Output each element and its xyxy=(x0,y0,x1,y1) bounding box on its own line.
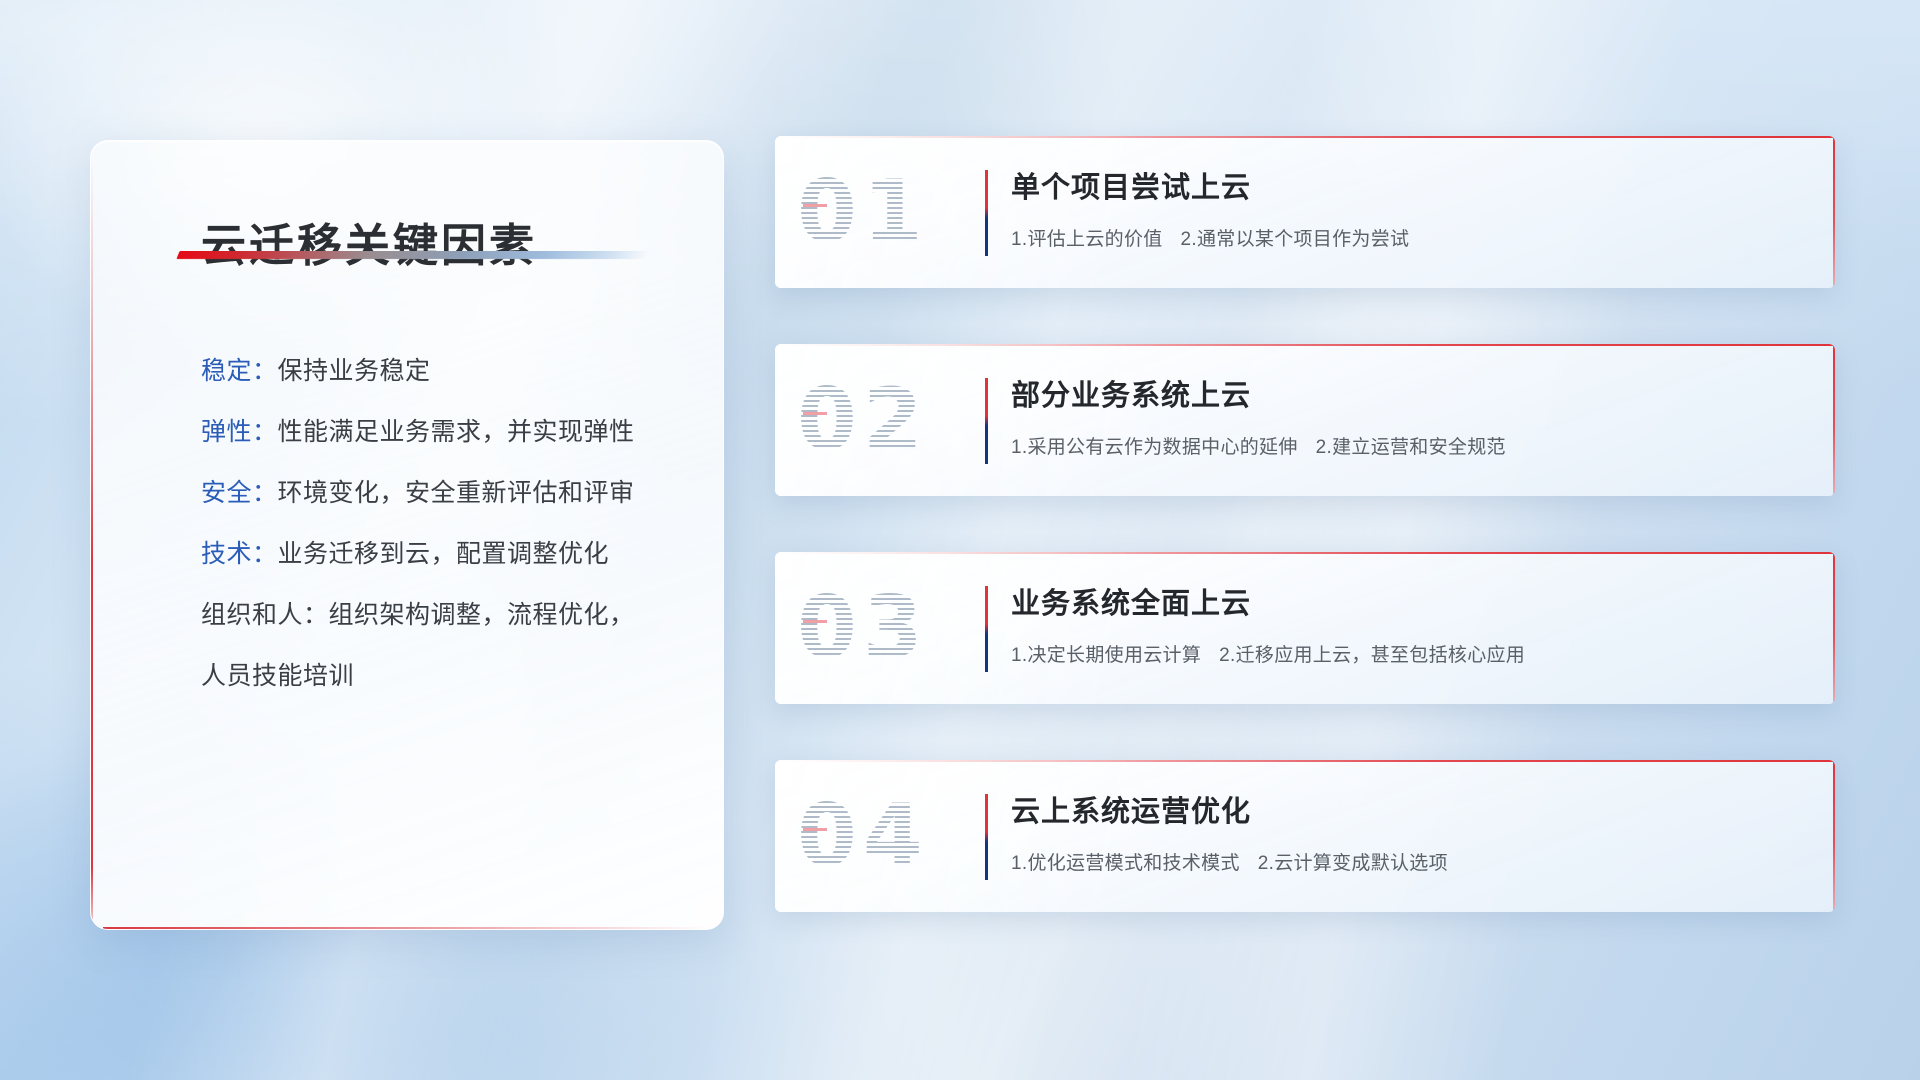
migration-stages-list: 01 单个项目尝试上云 1.评估上云的价值2.通常以某个项目作为尝试 02 部分… xyxy=(775,136,1835,968)
stage-desc-item-2: 2.通常以某个项目作为尝试 xyxy=(1181,229,1410,250)
card-right-accent xyxy=(1833,552,1835,704)
stage-content: 业务系统全面上云 1.决定长期使用云计算2.迁移应用上云，甚至包括核心应用 xyxy=(1011,580,1795,667)
list-item-continuation: 人员技能培训 xyxy=(201,646,677,707)
list-item-text: 业务迁移到云，配置调整优化 xyxy=(278,540,610,568)
stage-description: 1.评估上云的价值2.通常以某个项目作为尝试 xyxy=(1011,224,1795,251)
list-item-text: 组织架构调整，流程优化， xyxy=(329,601,635,629)
list-item-key: 稳定： xyxy=(201,357,278,385)
stage-card[interactable]: 03 业务系统全面上云 1.决定长期使用云计算2.迁移应用上云，甚至包括核心应用 xyxy=(775,552,1835,704)
title-underline-rule xyxy=(176,251,649,259)
list-item: 稳定：保持业务稳定 xyxy=(201,341,677,402)
stage-number: 02 xyxy=(797,370,929,470)
slide-canvas: 云迁移关键因素 稳定：保持业务稳定 弹性：性能满足业务需求，并实现弹性 安全：环… xyxy=(0,0,1920,1080)
card-top-accent xyxy=(775,760,1835,762)
stage-number: 03 xyxy=(797,578,929,678)
stage-desc-item-1: 1.采用公有云作为数据中心的延伸 xyxy=(1011,437,1298,458)
card-top-accent xyxy=(775,344,1835,346)
stage-desc-item-1: 1.优化运营模式和技术模式 xyxy=(1011,853,1240,874)
list-item-key: 技术： xyxy=(201,540,278,568)
stage-title: 单个项目尝试上云 xyxy=(1011,164,1795,206)
stage-desc-item-2: 2.建立运营和安全规范 xyxy=(1316,437,1506,458)
card-top-accent xyxy=(775,136,1835,138)
stage-number: 04 xyxy=(797,786,929,886)
list-item-text: 保持业务稳定 xyxy=(278,357,431,385)
stage-divider-bar xyxy=(985,586,988,672)
stage-description: 1.决定长期使用云计算2.迁移应用上云，甚至包括核心应用 xyxy=(1011,640,1795,667)
list-item-text: 性能满足业务需求，并实现弹性 xyxy=(278,418,635,446)
stage-divider-bar xyxy=(985,378,988,464)
stage-number: 01 xyxy=(797,162,929,262)
list-item: 安全：环境变化，安全重新评估和评审 xyxy=(201,463,677,524)
card-right-accent xyxy=(1833,344,1835,496)
card-top-accent xyxy=(775,552,1835,554)
list-item: 弹性：性能满足业务需求，并实现弹性 xyxy=(201,402,677,463)
stage-card[interactable]: 02 部分业务系统上云 1.采用公有云作为数据中心的延伸2.建立运营和安全规范 xyxy=(775,344,1835,496)
page-title: 云迁移关键因素 xyxy=(201,209,537,274)
key-factors-list: 稳定：保持业务稳定 弹性：性能满足业务需求，并实现弹性 安全：环境变化，安全重新… xyxy=(201,341,677,707)
stage-divider-bar xyxy=(985,170,988,256)
list-item-key: 组织和人： xyxy=(201,601,329,629)
stage-desc-item-2: 2.迁移应用上云，甚至包括核心应用 xyxy=(1219,645,1525,666)
stage-card[interactable]: 04 云上系统运营优化 1.优化运营模式和技术模式2.云计算变成默认选项 xyxy=(775,760,1835,912)
stage-desc-item-2: 2.云计算变成默认选项 xyxy=(1258,853,1448,874)
stage-title: 业务系统全面上云 xyxy=(1011,580,1795,622)
stage-title: 部分业务系统上云 xyxy=(1011,372,1795,414)
card-right-accent xyxy=(1833,136,1835,288)
stage-card[interactable]: 01 单个项目尝试上云 1.评估上云的价值2.通常以某个项目作为尝试 xyxy=(775,136,1835,288)
stage-description: 1.优化运营模式和技术模式2.云计算变成默认选项 xyxy=(1011,848,1795,875)
stage-divider-bar xyxy=(985,794,988,880)
stage-content: 部分业务系统上云 1.采用公有云作为数据中心的延伸2.建立运营和安全规范 xyxy=(1011,372,1795,459)
stage-content: 云上系统运营优化 1.优化运营模式和技术模式2.云计算变成默认选项 xyxy=(1011,788,1795,875)
stage-desc-item-1: 1.决定长期使用云计算 xyxy=(1011,645,1201,666)
key-factors-panel: 云迁移关键因素 稳定：保持业务稳定 弹性：性能满足业务需求，并实现弹性 安全：环… xyxy=(90,140,724,930)
stage-title: 云上系统运营优化 xyxy=(1011,788,1795,830)
stage-content: 单个项目尝试上云 1.评估上云的价值2.通常以某个项目作为尝试 xyxy=(1011,164,1795,251)
list-item-text: 人员技能培训 xyxy=(201,662,354,690)
list-item: 技术：业务迁移到云，配置调整优化 xyxy=(201,524,677,585)
list-item: 组织和人：组织架构调整，流程优化， xyxy=(201,585,677,646)
list-item-key: 弹性： xyxy=(201,418,278,446)
card-right-accent xyxy=(1833,760,1835,912)
stage-description: 1.采用公有云作为数据中心的延伸2.建立运营和安全规范 xyxy=(1011,432,1795,459)
list-item-key: 安全： xyxy=(201,479,278,507)
list-item-text: 环境变化，安全重新评估和评审 xyxy=(278,479,635,507)
stage-desc-item-1: 1.评估上云的价值 xyxy=(1011,229,1163,250)
